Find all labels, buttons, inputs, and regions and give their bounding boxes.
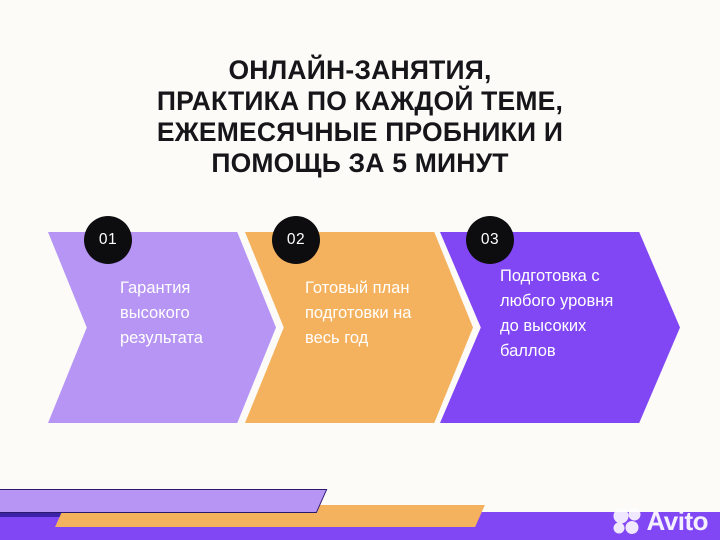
decoration-light-purple-stripe [0, 489, 327, 513]
avito-wordmark: Avito [646, 508, 708, 534]
step-badge-1: 01 [84, 216, 132, 264]
page-title: ОНЛАЙН-ЗАНЯТИЯ, ПРАКТИКА ПО КАЖДОЙ ТЕМЕ,… [0, 55, 720, 179]
title-line-3: ЕЖЕМЕСЯЧНЫЕ ПРОБНИКИ И [0, 117, 720, 148]
slide-canvas: ОНЛАЙН-ЗАНЯТИЯ, ПРАКТИКА ПО КАЖДОЙ ТЕМЕ,… [0, 0, 720, 540]
title-line-1: ОНЛАЙН-ЗАНЯТИЯ, [0, 55, 720, 86]
step-text-3: Подготовка с любого уровня до высоких ба… [500, 264, 660, 364]
title-line-2: ПРАКТИКА ПО КАЖДОЙ ТЕМЕ, [0, 86, 720, 117]
avito-watermark: Avito [612, 508, 708, 534]
avito-logo-icon [612, 508, 642, 534]
step-badge-3: 03 [466, 216, 514, 264]
step-text-1: Гарантия высокого результата [120, 276, 260, 351]
title-line-4: ПОМОЩЬ ЗА 5 МИНУТ [0, 148, 720, 179]
step-text-2: Готовый план подготовки на весь год [305, 276, 465, 351]
step-chevron-3: Подготовка с любого уровня до высоких ба… [440, 232, 680, 423]
step-chevron-2: Готовый план подготовки на весь год [245, 232, 473, 423]
step-badge-2: 02 [272, 216, 320, 264]
step-chevron-1: Гарантия высокого результата [48, 232, 276, 423]
